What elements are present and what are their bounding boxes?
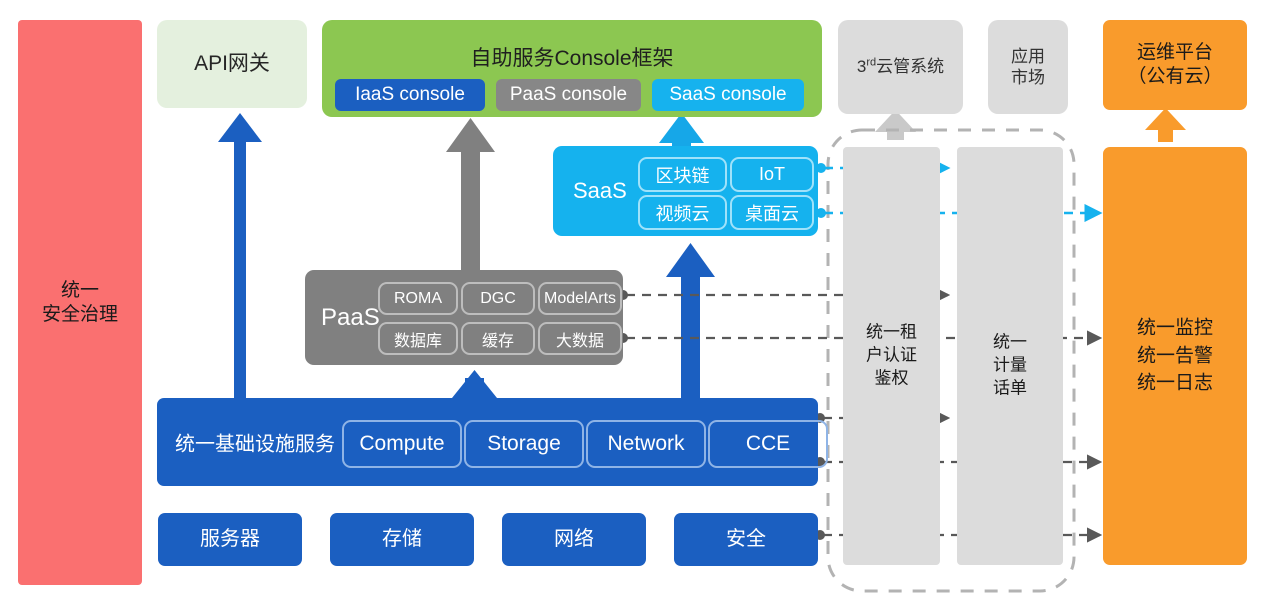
security-line-2: 安全治理: [42, 303, 118, 327]
saas-chip-video-cloud[interactable]: 视频云: [638, 195, 727, 230]
metering-line-3: 话单: [957, 377, 1063, 400]
paas-chip-roma-label: ROMA: [394, 290, 442, 308]
saas-console-chip[interactable]: SaaS console: [652, 79, 804, 111]
third-party-ordinal-suffix: rd: [866, 57, 876, 69]
iaas-console-chip[interactable]: IaaS console: [335, 79, 485, 111]
saas-chip-blockchain-label: 区块链: [656, 162, 710, 188]
tenant-auth-label: 统一租 户认证 鉴权: [843, 322, 940, 391]
paas-label: PaaS: [321, 304, 380, 332]
infra-chip-storage[interactable]: Storage: [464, 420, 584, 468]
third-party-label: 云管系统: [876, 57, 944, 76]
api-gateway-box[interactable]: API网关: [157, 20, 307, 108]
paas-chip-database[interactable]: 数据库: [378, 322, 458, 355]
metering-column[interactable]: 统一 计量 话单: [957, 147, 1063, 565]
monitoring-line-1: 统一监控: [1103, 315, 1247, 343]
infra-chip-compute-label: Compute: [359, 432, 444, 456]
paas-chip-bigdata-label: 大数据: [556, 327, 604, 351]
third-party-cloud-mgmt-box[interactable]: 3rd云管系统: [838, 20, 963, 114]
app-market-line-2: 市场: [1011, 67, 1045, 88]
saas-chip-blockchain[interactable]: 区块链: [638, 157, 727, 192]
saas-chip-desktop-cloud-label: 桌面云: [745, 200, 799, 226]
api-gateway-label: API网关: [194, 51, 270, 77]
arrow-to-ops-platform: [1145, 108, 1186, 142]
ops-platform-box[interactable]: 运维平台 （公有云）: [1103, 20, 1247, 110]
paas-chip-roma[interactable]: ROMA: [378, 282, 458, 315]
infra-chip-storage-label: Storage: [487, 432, 561, 456]
tenant-auth-line-1: 统一租: [843, 322, 940, 345]
saas-chip-iot-label: IoT: [759, 164, 785, 185]
infrastructure-panel: 统一基础设施服务 Compute Storage Network CCE: [157, 398, 818, 486]
arrow-infra-to-saas: [666, 243, 715, 400]
paas-chip-cache[interactable]: 缓存: [461, 322, 535, 355]
tenant-auth-column[interactable]: 统一租 户认证 鉴权: [843, 147, 940, 565]
monitoring-label: 统一监控 统一告警 统一日志: [1103, 315, 1247, 398]
metering-label: 统一 计量 话单: [957, 332, 1063, 401]
monitoring-line-3: 统一日志: [1103, 370, 1247, 398]
arrow-infra-to-api: [218, 113, 262, 398]
paas-chip-bigdata[interactable]: 大数据: [538, 322, 622, 355]
saas-chip-iot[interactable]: IoT: [730, 157, 814, 192]
paas-chip-database-label: 数据库: [394, 327, 442, 351]
arrow-to-third-party: [875, 110, 916, 140]
infra-chip-network[interactable]: Network: [586, 420, 706, 468]
hardware-label-server: 服务器: [200, 527, 260, 552]
console-framework-panel: 自助服务Console框架 IaaS console PaaS console …: [322, 20, 822, 117]
ops-platform-line-1: 运维平台: [1127, 41, 1222, 65]
infra-chip-cce-label: CCE: [746, 432, 790, 456]
paas-chip-cache-label: 缓存: [482, 327, 514, 351]
hardware-box-storage[interactable]: 存储: [330, 513, 474, 566]
hardware-label-security: 安全: [726, 527, 766, 552]
saas-chip-video-cloud-label: 视频云: [656, 200, 710, 226]
arrow-paas-to-console: [446, 118, 495, 270]
hardware-box-server[interactable]: 服务器: [158, 513, 302, 566]
unified-security-panel: 统一 安全治理: [18, 20, 142, 585]
infrastructure-label: 统一基础设施服务: [175, 428, 335, 457]
metering-line-1: 统一: [957, 332, 1063, 355]
saas-panel: SaaS 区块链 IoT 视频云 桌面云: [553, 146, 818, 236]
paas-chip-modelarts-label: ModelArts: [544, 290, 616, 308]
paas-console-label: PaaS console: [510, 84, 627, 106]
saas-chip-desktop-cloud[interactable]: 桌面云: [730, 195, 814, 230]
tenant-auth-line-3: 鉴权: [843, 367, 940, 390]
monitoring-line-2: 统一告警: [1103, 342, 1247, 370]
saas-console-label: SaaS console: [669, 84, 786, 106]
console-framework-title: 自助服务Console框架: [322, 42, 822, 72]
hardware-box-network[interactable]: 网络: [502, 513, 646, 566]
third-party-prefix: 3: [857, 57, 866, 76]
paas-chip-modelarts[interactable]: ModelArts: [538, 282, 622, 315]
paas-chip-dgc[interactable]: DGC: [461, 282, 535, 315]
paas-console-chip[interactable]: PaaS console: [496, 79, 641, 111]
app-market-box[interactable]: 应用 市场: [988, 20, 1068, 114]
monitoring-column[interactable]: 统一监控 统一告警 统一日志: [1103, 147, 1247, 565]
tenant-auth-line-2: 户认证: [843, 345, 940, 368]
app-market-line-1: 应用: [1011, 46, 1045, 67]
hardware-label-storage: 存储: [382, 527, 422, 552]
architecture-diagram: 统一 安全治理 API网关 自助服务Console框架 IaaS console…: [0, 0, 1265, 605]
metering-line-2: 计量: [957, 355, 1063, 378]
infra-chip-cce[interactable]: CCE: [708, 420, 828, 468]
iaas-console-label: IaaS console: [355, 84, 465, 106]
arrow-infra-to-paas: [452, 370, 497, 400]
paas-panel: PaaS ROMA DGC ModelArts 数据库 缓存 大数据: [305, 270, 623, 365]
hardware-label-network: 网络: [554, 527, 594, 552]
saas-label: SaaS: [573, 178, 627, 204]
security-line-1: 统一: [42, 279, 118, 303]
infra-chip-network-label: Network: [607, 432, 684, 456]
hardware-box-security[interactable]: 安全: [674, 513, 818, 566]
infra-chip-compute[interactable]: Compute: [342, 420, 462, 468]
ops-platform-line-2: （公有云）: [1127, 65, 1222, 89]
paas-chip-dgc-label: DGC: [480, 290, 516, 308]
